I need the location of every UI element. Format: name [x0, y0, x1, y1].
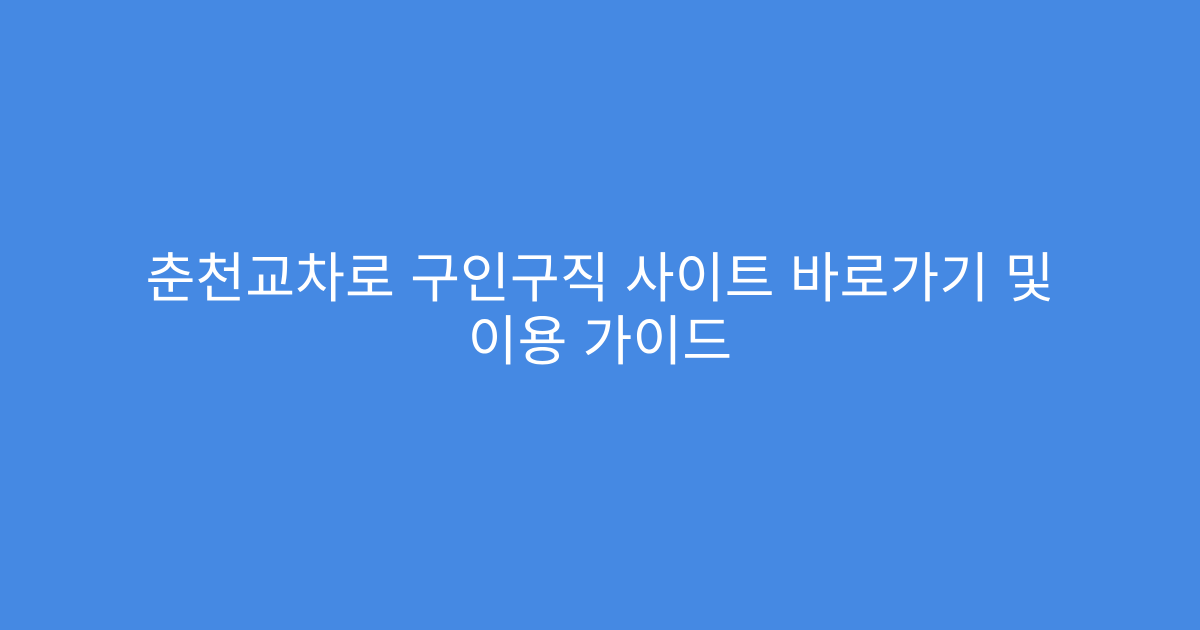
title-card-content: 춘천교차로 구인구직 사이트 바로가기 및 이용 가이드	[100, 252, 1100, 378]
page-title: 춘천교차로 구인구직 사이트 바로가기 및 이용 가이드	[100, 248, 1100, 374]
title-card: 춘천교차로 구인구직 사이트 바로가기 및 이용 가이드	[0, 0, 1200, 630]
